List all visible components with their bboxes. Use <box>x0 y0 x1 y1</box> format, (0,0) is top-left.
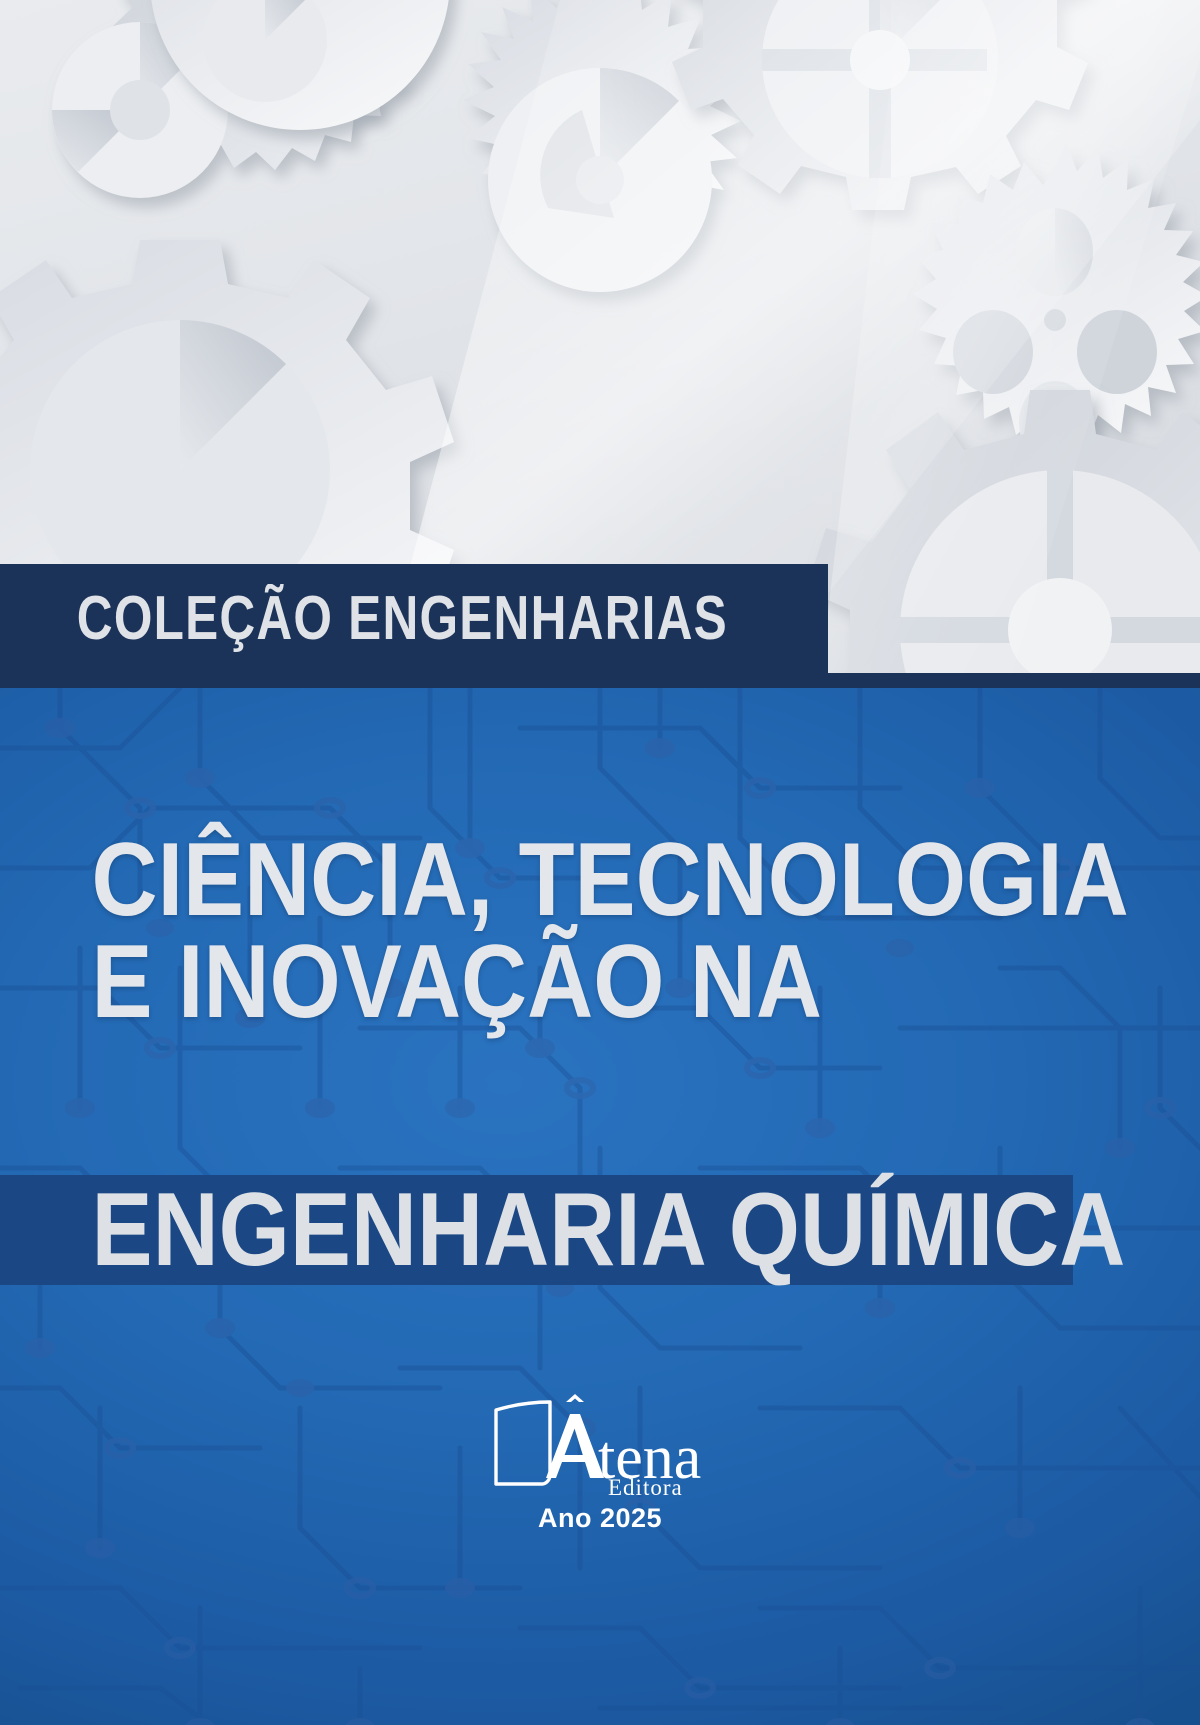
publication-year: Ano 2025 <box>538 1503 662 1534</box>
collection-banner: COLEÇÃO ENGENHARIAS <box>0 564 828 673</box>
collection-label: COLEÇÃO ENGENHARIAS <box>0 588 728 650</box>
atena-editora-logo-icon: tena Editora <box>480 1392 720 1497</box>
title-highlight-band: ENGENHARIA QUÍMICA <box>0 1175 1073 1285</box>
logo-subtitle: Editora <box>608 1475 683 1497</box>
book-cover: COLEÇÃO ENGENHARIAS <box>0 0 1200 1725</box>
title-line-3: ENGENHARIA QUÍMICA <box>0 1178 1125 1282</box>
title-line-1: CIÊNCIA, TECNOLOGIA <box>0 830 1056 932</box>
publisher-logo-area: tena Editora Ano 2025 <box>0 1392 1200 1534</box>
book-title: CIÊNCIA, TECNOLOGIA E INOVAÇÃO NA <box>0 830 1200 1034</box>
collection-strip <box>0 673 1200 688</box>
title-line-2: E INOVAÇÃO NA <box>0 932 1056 1034</box>
